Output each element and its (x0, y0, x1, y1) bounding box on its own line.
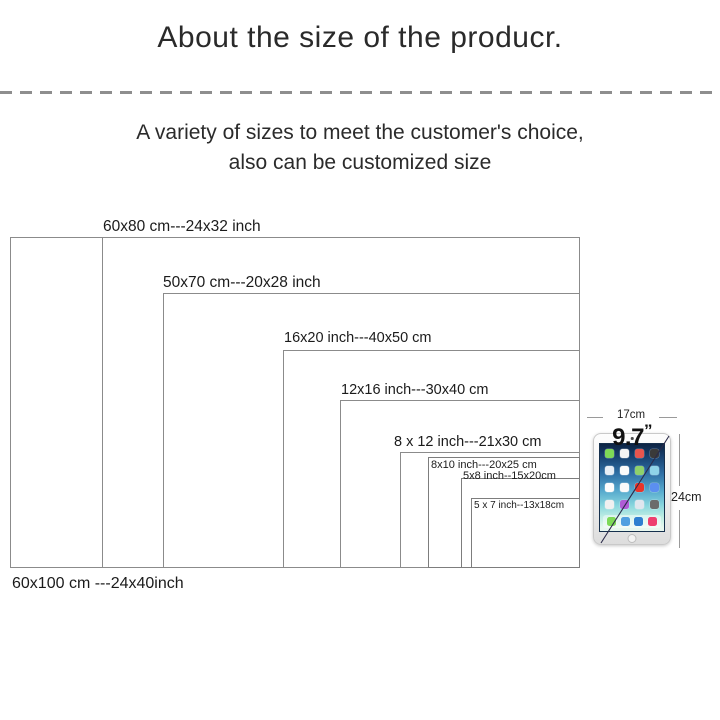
ipad-app-icon-6 (620, 466, 629, 475)
ipad-app-icon-16 (650, 500, 659, 509)
ipad-app-icon-grid (604, 449, 660, 511)
ipad-app-icon-8 (650, 466, 659, 475)
ipad-app-icon-10 (620, 483, 629, 492)
page-subtitle: A variety of sizes to meet the customer'… (0, 118, 720, 178)
size-label-5x8: 5x8 inch--15x20cm (463, 471, 556, 482)
ipad-app-icon-5 (605, 466, 614, 475)
header-divider (0, 91, 720, 94)
ipad-app-icon-13 (605, 500, 614, 509)
ipad-dock-icon-2 (621, 517, 630, 526)
ipad-dock (603, 515, 661, 528)
tablet-scale-reference: 17cm 24cm 9.7” (583, 404, 720, 574)
page-title: About the size of the producr. (0, 16, 720, 60)
ipad-app-icon-14 (620, 500, 629, 509)
ipad-app-icon-7 (635, 466, 644, 475)
tablet-height-dim-line-bottom (679, 510, 680, 548)
tablet-height-label: 24cm (671, 490, 702, 504)
tablet-width-label: 17cm (603, 409, 659, 421)
ipad-dock-icon-1 (607, 517, 616, 526)
tablet-width-dim-line-left (587, 417, 603, 418)
ipad-app-icon-12 (650, 483, 659, 492)
size-chart-page: About the size of the producr. A variety… (0, 0, 720, 720)
ipad-screen (599, 443, 665, 532)
ipad-app-icon-11 (635, 483, 644, 492)
size-label-50x70: 50x70 cm---20x28 inch (163, 275, 321, 291)
ipad-app-icon-15 (635, 500, 644, 509)
size-label-60x100: 60x100 cm ---24x40inch (12, 575, 184, 593)
tablet-width-dim-line-right (659, 417, 677, 418)
tablet-diagonal-label: 9.7” (601, 421, 663, 452)
size-label-60x80: 60x80 cm---24x32 inch (103, 219, 261, 235)
ipad-app-icon-9 (605, 483, 614, 492)
size-label-8x12: 8 x 12 inch---21x30 cm (394, 435, 541, 450)
tablet-diagonal-unit: ” (644, 421, 652, 440)
ipad-dock-icon-3 (634, 517, 643, 526)
size-label-12x16: 12x16 inch---30x40 cm (341, 383, 489, 398)
subtitle-line-2: also can be customized size (0, 148, 720, 178)
size-label-5x7: 5 x 7 inch--13x18cm (474, 501, 564, 511)
ipad-home-button-icon (628, 534, 637, 543)
tablet-height-dim-line-top (679, 434, 680, 486)
tablet-diagonal-value: 9.7 (612, 424, 644, 451)
ipad-dock-icon-4 (648, 517, 657, 526)
subtitle-line-1: A variety of sizes to meet the customer'… (136, 121, 584, 144)
size-label-16x20: 16x20 inch---40x50 cm (284, 331, 432, 346)
